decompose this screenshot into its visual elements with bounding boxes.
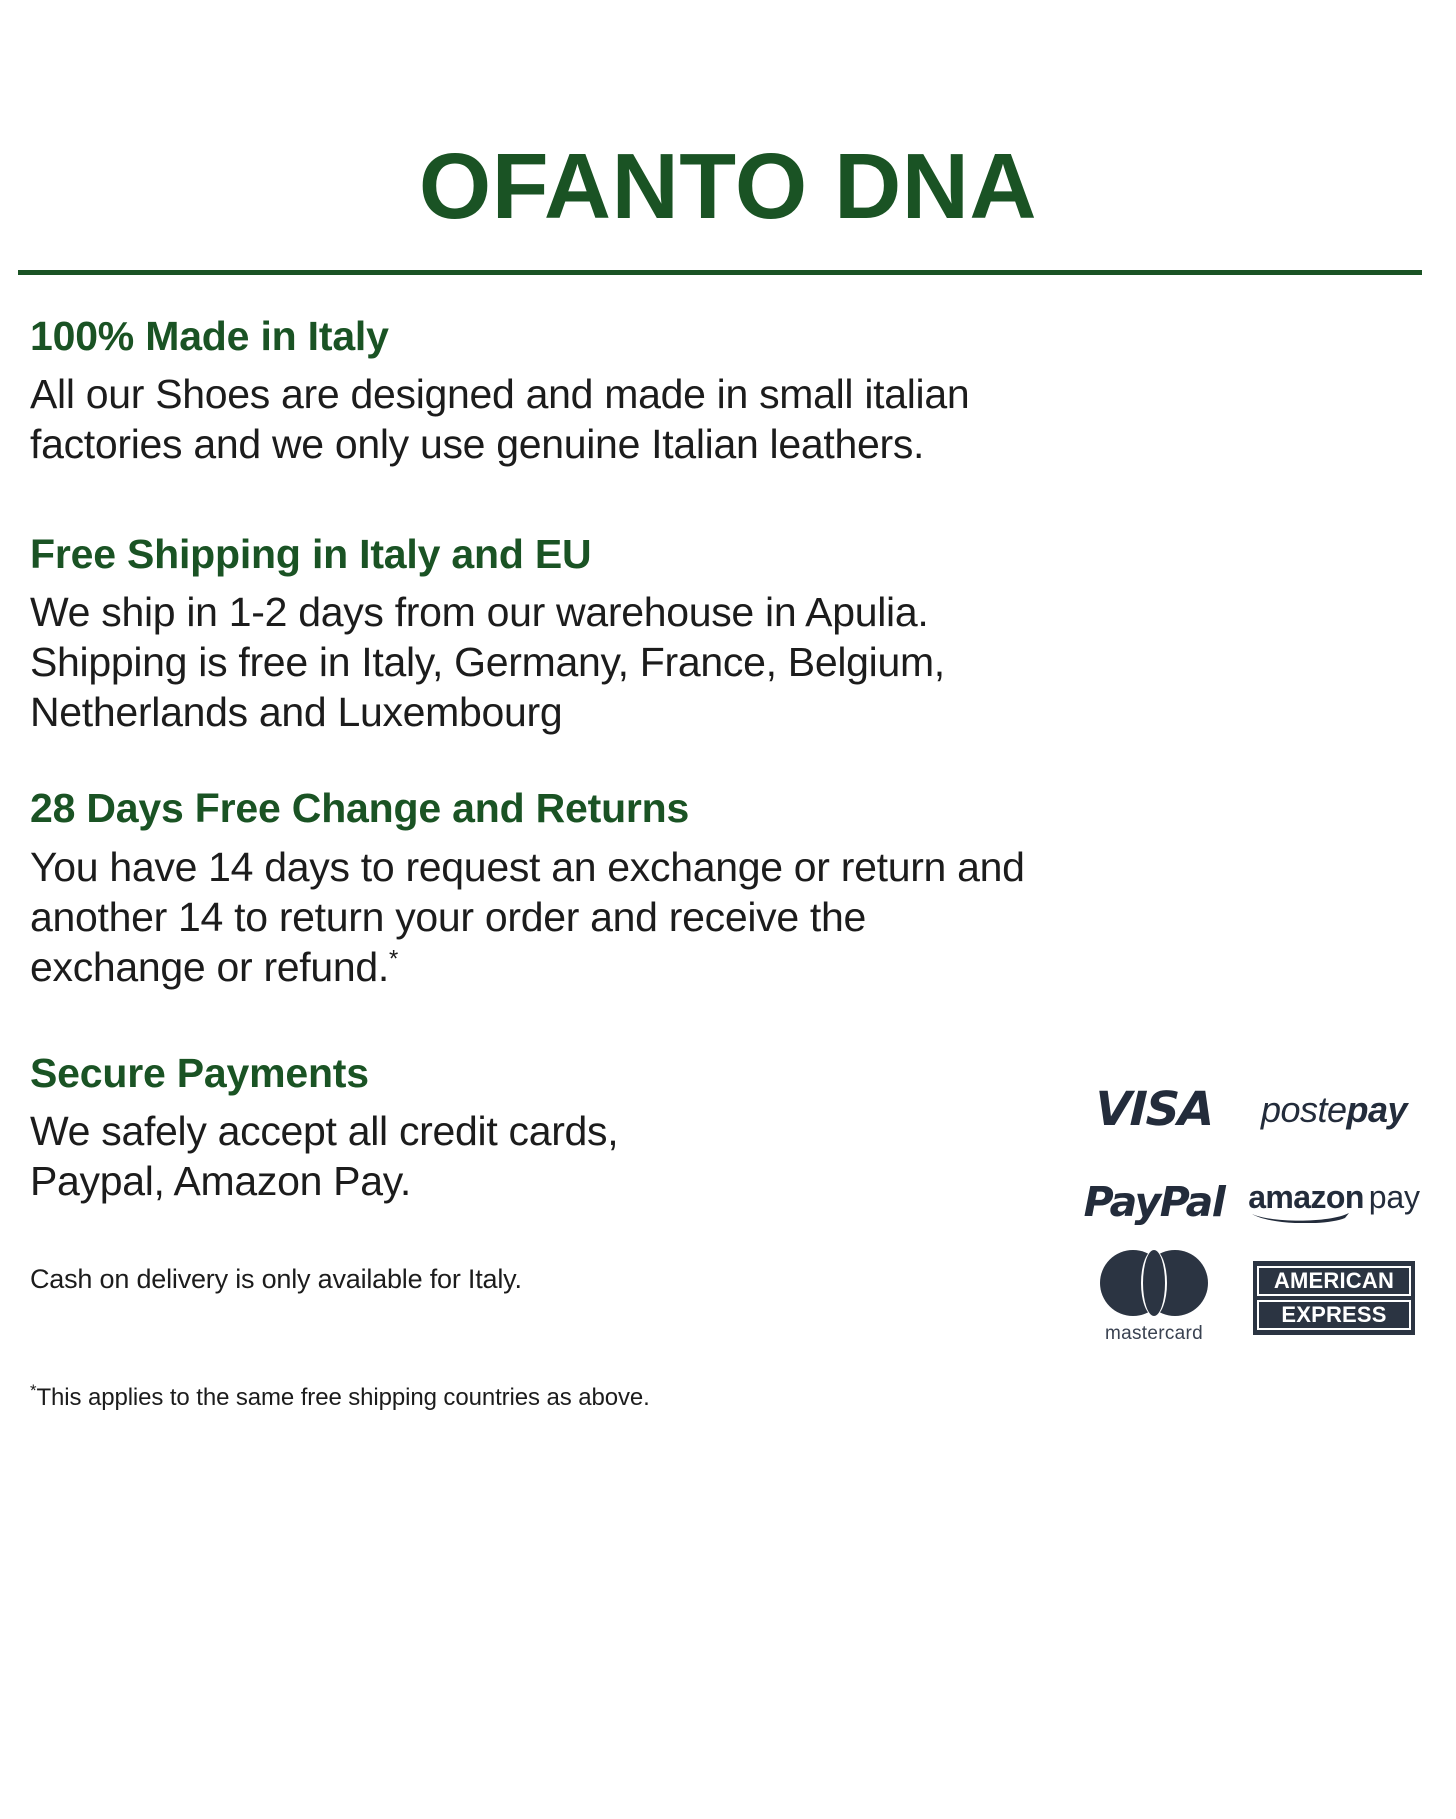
body-line: Paypal, Amazon Pay. — [30, 1156, 650, 1206]
amazon-pay-icon: amazonpay — [1248, 1181, 1420, 1223]
section-gap — [30, 737, 1426, 785]
section-secure-payments: Secure Payments We safely accept all cre… — [30, 1050, 1426, 1413]
amex-label-line2: EXPRESS — [1257, 1300, 1411, 1330]
mastercard-circles-icon — [1100, 1250, 1208, 1316]
section-gap — [30, 469, 1426, 531]
section-body-secure-payments: We safely accept all credit cards, Paypa… — [30, 1106, 650, 1206]
section-heading-free-shipping: Free Shipping in Italy and EU — [30, 531, 1426, 578]
postepay-icon: postepay — [1261, 1089, 1407, 1131]
body-line: Netherlands and Luxembourg — [30, 687, 1426, 737]
mastercard-logo-cell: mastercard — [1064, 1248, 1244, 1348]
payment-methods-logos: VISA postepay PayPal amazonpay — [1064, 1064, 1424, 1348]
body-line: We safely accept all credit cards, — [30, 1106, 650, 1156]
postepay-label-light: poste — [1261, 1089, 1347, 1130]
amazon-pay-label: pay — [1369, 1179, 1420, 1215]
amex-logo-cell: AMERICAN EXPRESS — [1244, 1248, 1424, 1348]
paypal-logo-cell: PayPal — [1064, 1156, 1244, 1248]
secure-payments-row: Secure Payments We safely accept all cre… — [30, 1050, 1426, 1413]
visa-icon: VISA — [1094, 1082, 1214, 1137]
visa-logo-cell: VISA — [1064, 1064, 1244, 1156]
postepay-logo-cell: postepay — [1244, 1064, 1424, 1156]
body-line: exchange or refund.* — [30, 942, 1426, 992]
mastercard-icon: mastercard — [1100, 1250, 1208, 1345]
postepay-label-bold: pay — [1347, 1089, 1408, 1130]
section-body-change-and-returns: You have 14 days to request an exchange … — [30, 842, 1426, 992]
body-line: factories and we only use genuine Italia… — [30, 419, 1426, 469]
amex-label-line1: AMERICAN — [1257, 1266, 1411, 1296]
footnote-marker: * — [389, 945, 398, 972]
page-title: OFANTO DNA — [30, 0, 1426, 233]
page-footnote: *This applies to the same free shipping … — [30, 1382, 650, 1413]
amazon-label: amazon — [1248, 1179, 1364, 1215]
american-express-icon: AMERICAN EXPRESS — [1253, 1261, 1415, 1335]
section-made-in-italy: 100% Made in Italy All our Shoes are des… — [30, 313, 1426, 469]
body-line: You have 14 days to request an exchange … — [30, 842, 1426, 892]
content-area: 100% Made in Italy All our Shoes are des… — [30, 275, 1426, 1413]
body-line: another 14 to return your order and rece… — [30, 892, 1426, 942]
amazonpay-logo-cell: amazonpay — [1244, 1156, 1424, 1248]
footnote-text: This applies to the same free shipping c… — [36, 1384, 649, 1411]
section-gap — [30, 992, 1426, 1050]
ofanto-dna-info-page: OFANTO DNA 100% Made in Italy All our Sh… — [0, 0, 1456, 1819]
section-body-made-in-italy: All our Shoes are designed and made in s… — [30, 369, 1426, 469]
body-line: All our Shoes are designed and made in s… — [30, 369, 1426, 419]
section-heading-change-and-returns: 28 Days Free Change and Returns — [30, 785, 1426, 832]
cash-on-delivery-note: Cash on delivery is only available for I… — [30, 1262, 650, 1297]
section-change-and-returns: 28 Days Free Change and Returns You have… — [30, 785, 1426, 991]
section-body-free-shipping: We ship in 1-2 days from our warehouse i… — [30, 587, 1426, 737]
amazon-smile-icon — [1250, 1212, 1354, 1223]
mastercard-overlap — [1141, 1250, 1167, 1316]
section-free-shipping: Free Shipping in Italy and EU We ship in… — [30, 531, 1426, 737]
body-line: We ship in 1-2 days from our warehouse i… — [30, 587, 1426, 637]
body-line-text: exchange or refund. — [30, 944, 389, 990]
secure-payments-text: Secure Payments We safely accept all cre… — [30, 1050, 650, 1413]
paypal-icon: PayPal — [1084, 1178, 1225, 1226]
mastercard-label: mastercard — [1105, 1323, 1203, 1345]
section-heading-made-in-italy: 100% Made in Italy — [30, 313, 1426, 360]
section-heading-secure-payments: Secure Payments — [30, 1050, 650, 1097]
body-line: Shipping is free in Italy, Germany, Fran… — [30, 637, 1426, 687]
